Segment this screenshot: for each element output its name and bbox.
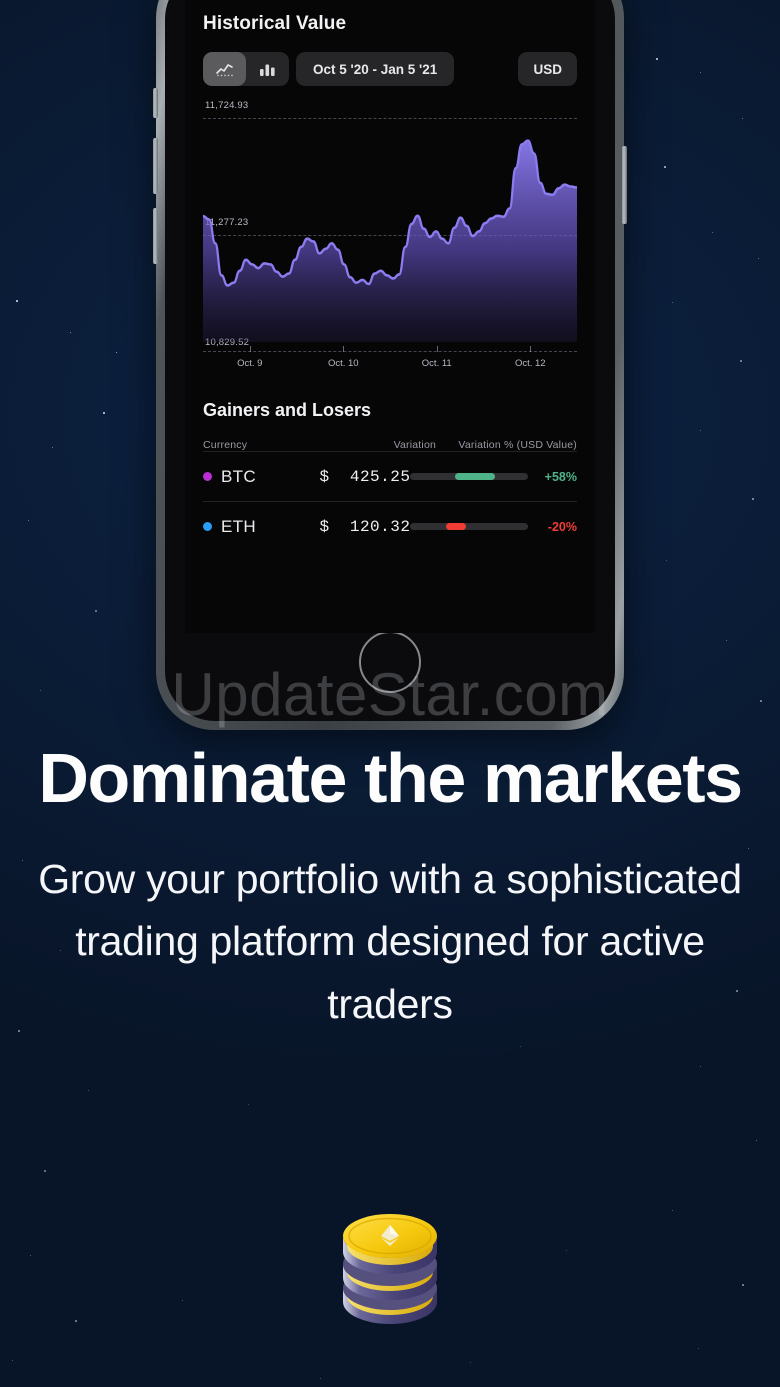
date-range-selector[interactable]: Oct 5 '20 - Jan 5 '21 (296, 52, 454, 86)
chart-plot-area (203, 124, 577, 342)
gainers-losers-table: BTC $ 425.25 +58% ETH $ 120.32 (203, 451, 577, 551)
line-chart-icon[interactable] (203, 52, 246, 86)
star (758, 258, 759, 259)
star (52, 447, 53, 448)
column-header-variation-pct: Variation % (USD Value) (436, 439, 577, 451)
gridline-top (203, 118, 577, 119)
x-axis-label: Oct. 9 (237, 358, 262, 369)
star (30, 1255, 31, 1256)
volume-up-button[interactable] (153, 138, 158, 194)
chart-svg (203, 124, 577, 342)
subheadline: Grow your portfolio with a sophisticated… (30, 848, 750, 1035)
currency-selector[interactable]: USD (518, 52, 577, 86)
variation-bar-fill (446, 523, 466, 530)
chart-type-toggle[interactable] (203, 52, 289, 86)
power-button[interactable] (622, 146, 627, 224)
star (75, 1320, 77, 1322)
x-axis-label: Oct. 12 (515, 358, 546, 369)
x-tick (250, 346, 251, 352)
x-tick (530, 346, 531, 352)
currency-symbol: BTC (221, 467, 256, 487)
phone-mockup: Historical Value (156, 0, 624, 730)
mute-switch-button[interactable] (153, 88, 158, 118)
x-tick (343, 346, 344, 352)
star (44, 1170, 46, 1172)
star (103, 412, 105, 414)
star (28, 520, 29, 521)
x-tick (437, 346, 438, 352)
star (95, 610, 97, 612)
volume-down-button[interactable] (153, 208, 158, 264)
variation-bar-track (410, 473, 528, 480)
star (742, 1284, 744, 1286)
trading-app: Historical Value (185, 0, 595, 633)
historical-value-chart[interactable]: 11,724.93 11,277.23 10,829.52 (203, 100, 577, 378)
variation-value: $ 425.25 (310, 468, 410, 486)
star (700, 1066, 701, 1067)
phone-screen: Historical Value (185, 0, 595, 633)
star (16, 300, 18, 302)
marketing-copy: Dominate the markets Grow your portfolio… (0, 742, 780, 1035)
star (88, 1090, 89, 1091)
bar-chart-icon[interactable] (246, 52, 289, 86)
column-header-variation: Variation (323, 439, 436, 451)
headline: Dominate the markets (30, 742, 750, 814)
variation-bar-fill (455, 473, 495, 480)
star (248, 1104, 249, 1105)
star (566, 1250, 567, 1251)
gainers-losers-title: Gainers and Losers (203, 400, 577, 421)
star (520, 1046, 521, 1047)
currency-dot-icon (203, 522, 212, 531)
y-axis-label-top: 11,724.93 (205, 100, 248, 111)
star (752, 498, 754, 500)
star (664, 166, 666, 168)
x-axis-labels: Oct. 9 Oct. 10 Oct. 11 Oct. 12 (203, 354, 577, 378)
table-row[interactable]: BTC $ 425.25 +58% (203, 451, 577, 501)
variation-percent: +58% (528, 470, 577, 484)
star (760, 700, 762, 702)
home-button[interactable] (359, 631, 421, 693)
star (182, 1300, 183, 1301)
x-axis-line (203, 351, 577, 352)
star (40, 690, 41, 691)
star (672, 302, 673, 303)
star (666, 560, 667, 561)
currency-symbol: ETH (221, 517, 256, 537)
star (698, 1348, 699, 1349)
star (672, 1210, 673, 1211)
star (742, 118, 743, 119)
star (70, 332, 71, 333)
variation-bar-track (410, 523, 528, 530)
star (470, 1362, 471, 1363)
star (12, 1360, 13, 1361)
star (756, 1140, 757, 1141)
currency-dot-icon (203, 472, 212, 481)
star (700, 430, 701, 431)
x-axis-label: Oct. 11 (422, 358, 452, 369)
star (712, 232, 713, 233)
star (656, 58, 658, 60)
chart-controls: Oct 5 '20 - Jan 5 '21 USD (203, 52, 577, 86)
star (700, 72, 701, 73)
star (740, 360, 742, 362)
star (116, 352, 117, 353)
column-header-currency: Currency (203, 439, 323, 451)
star (726, 640, 727, 641)
variation-percent: -20% (528, 520, 577, 534)
table-row[interactable]: ETH $ 120.32 -20% (203, 501, 577, 551)
x-axis-label: Oct. 10 (328, 358, 359, 369)
phone-bezel: Historical Value (165, 0, 615, 721)
coin-stack-icon (335, 1196, 445, 1342)
table-header: Currency Variation Variation % (USD Valu… (203, 439, 577, 451)
page-title: Historical Value (203, 0, 577, 35)
star (320, 1378, 321, 1379)
variation-value: $ 120.32 (310, 518, 410, 536)
